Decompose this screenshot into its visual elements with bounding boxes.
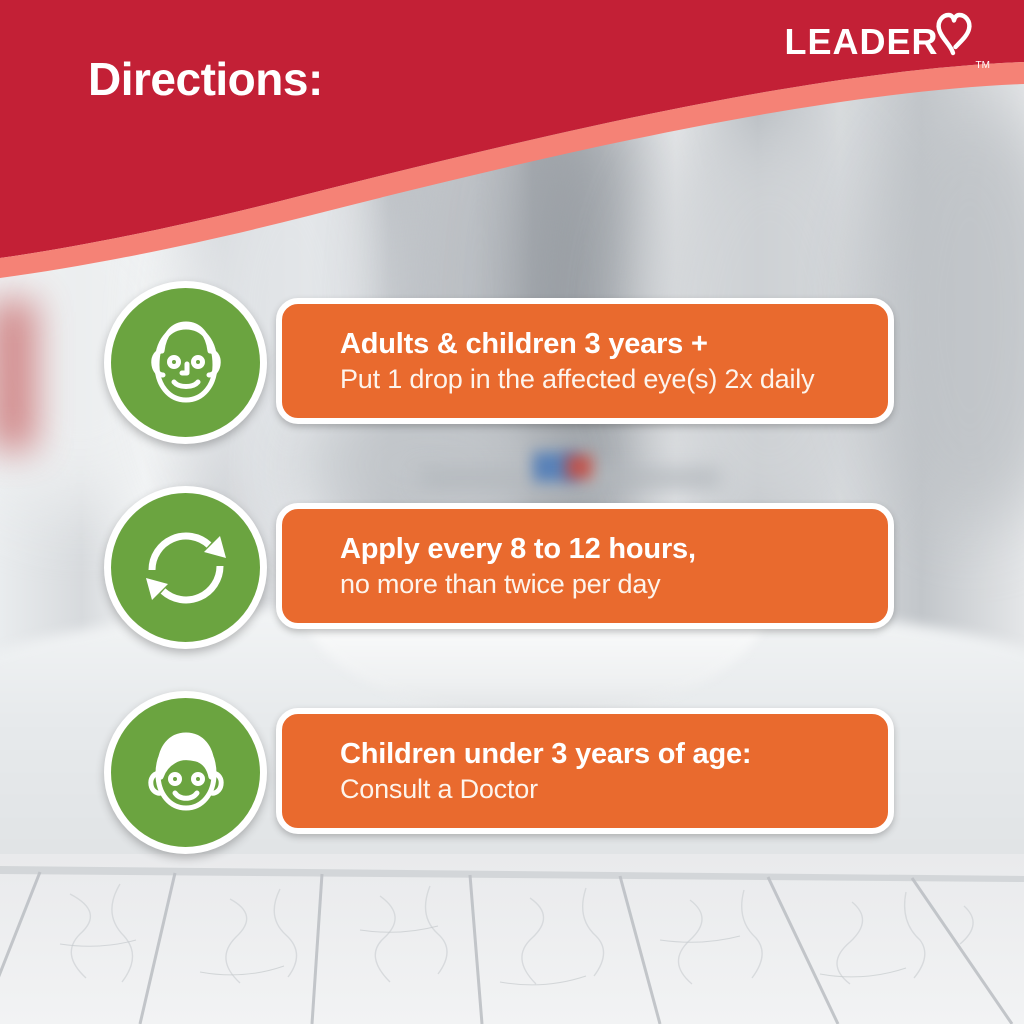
- instruction-row: Adults & children 3 years + Put 1 drop i…: [104, 281, 894, 441]
- instruction-pill: Adults & children 3 years + Put 1 drop i…: [276, 298, 894, 424]
- adult-face-icon: [130, 307, 242, 419]
- instruction-row: Children under 3 years of age: Consult a…: [104, 691, 894, 851]
- instruction-pill: Children under 3 years of age: Consult a…: [276, 708, 894, 834]
- instruction-subtitle: Put 1 drop in the affected eye(s) 2x dai…: [340, 363, 866, 395]
- child-face-icon: [130, 717, 242, 829]
- instruction-title: Children under 3 years of age:: [340, 737, 866, 771]
- instruction-subtitle: no more than twice per day: [340, 568, 866, 600]
- instruction-row: Apply every 8 to 12 hours, no more than …: [104, 486, 894, 646]
- instruction-title: Adults & children 3 years +: [340, 327, 866, 361]
- directions-infographic: Directions: LEADER TM Adults & children …: [0, 0, 1024, 1024]
- instruction-icon-badge: [104, 281, 267, 444]
- instruction-pill: Apply every 8 to 12 hours, no more than …: [276, 503, 894, 629]
- instruction-icon-badge: [104, 486, 267, 649]
- refresh-cycle-icon-graphic: [130, 512, 242, 624]
- adult-face-icon-graphic: [130, 307, 242, 419]
- instruction-subtitle: Consult a Doctor: [340, 773, 866, 805]
- refresh-cycle-icon: [130, 512, 242, 624]
- instruction-title: Apply every 8 to 12 hours,: [340, 532, 866, 566]
- instruction-icon-badge: [104, 691, 267, 854]
- child-face-icon-graphic: [130, 717, 242, 829]
- instruction-list: Adults & children 3 years + Put 1 drop i…: [0, 0, 1024, 1024]
